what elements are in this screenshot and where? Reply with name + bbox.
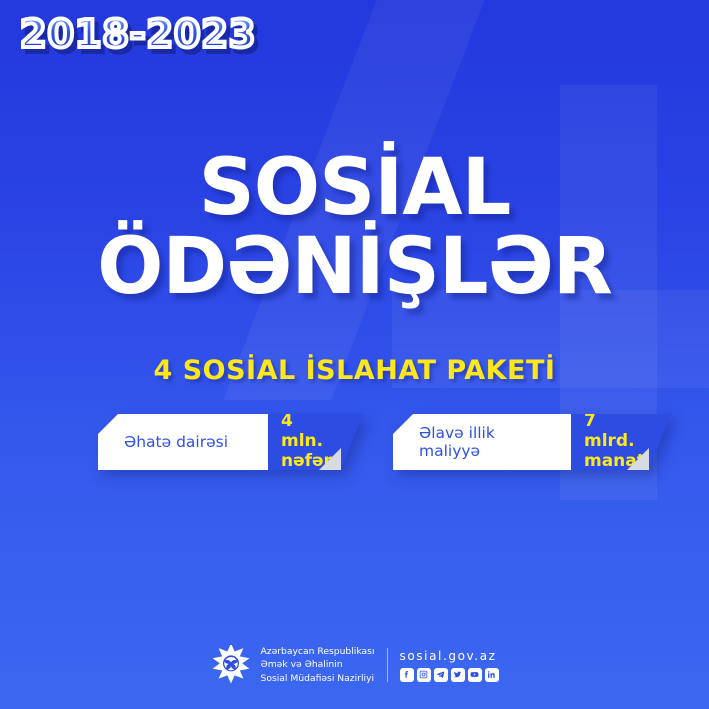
- web-contact-block: sosial.gov.az: [400, 649, 499, 682]
- footer-divider: [387, 648, 388, 682]
- page-title-line-1: SOSİAL: [0, 152, 709, 225]
- ministry-name-line-3: Sosial Müdafiəsi Nazirliyi: [261, 672, 375, 685]
- ministry-name: Azərbaycan Respublikası Əmək və Əhalinin…: [261, 645, 375, 684]
- year-range-badge: 2018-2023: [20, 12, 256, 56]
- facebook-icon[interactable]: [400, 668, 414, 682]
- ministry-name-line-1: Azərbaycan Respublikası: [261, 645, 375, 658]
- ministry-name-line-2: Əmək və Əhalinin: [261, 658, 375, 671]
- stat-badge-row: Əhatə dairəsi 4 mln.nəfər Əlavə illikmal…: [98, 414, 671, 470]
- page-title: SOSİAL ÖDƏNİŞLƏR: [0, 152, 709, 305]
- stat-badge-financing-value-line-1: 7 mlrd.: [584, 411, 635, 451]
- page-subtitle: 4 SOSİAL İSLAHAT PAKETİ: [0, 355, 709, 386]
- stat-badge-coverage-label: Əhatə dairəsi: [124, 433, 228, 451]
- stat-badge-coverage-value-panel: 4 mln.nəfər: [268, 414, 363, 470]
- page-title-line-2: ÖDƏNİŞLƏR: [0, 231, 709, 304]
- website-url[interactable]: sosial.gov.az: [400, 649, 497, 663]
- stat-badge-coverage-value-line-2: nəfər: [281, 451, 332, 471]
- stat-badge-financing-value-panel: 7 mlrd.manat: [571, 414, 671, 470]
- social-links: [400, 668, 499, 682]
- youtube-icon[interactable]: [468, 668, 482, 682]
- stat-badge-financing-value: 7 mlrd.manat: [584, 412, 645, 471]
- stat-badge-financing-label-panel: Əlavə illikmaliyyə: [393, 414, 571, 470]
- telegram-icon[interactable]: [434, 668, 448, 682]
- stat-badge-financing-label-line-1: Əlavə illik: [419, 424, 495, 442]
- ministry-block: Azərbaycan Respublikası Əmək və Əhalinin…: [211, 645, 375, 685]
- poster-canvas: 2018-2023 SOSİAL ÖDƏNİŞLƏR 4 SOSİAL İSLA…: [0, 0, 709, 709]
- stat-badge-financing-label-line-2: maliyyə: [419, 442, 480, 460]
- linkedin-icon[interactable]: [485, 668, 499, 682]
- stat-badge-coverage: Əhatə dairəsi 4 mln.nəfər: [98, 414, 363, 470]
- twitter-icon[interactable]: [451, 668, 465, 682]
- ministry-star-logo-icon: [211, 645, 251, 685]
- instagram-icon[interactable]: [417, 668, 431, 682]
- stat-badge-coverage-value: 4 mln.nəfər: [281, 412, 333, 471]
- stat-badge-coverage-value-line-1: 4 mln.: [281, 411, 323, 451]
- stat-badge-financing-label: Əlavə illikmaliyyə: [419, 424, 495, 461]
- stat-badge-financing-value-line-2: manat: [584, 451, 645, 471]
- stat-badge-financing: Əlavə illikmaliyyə 7 mlrd.manat: [393, 414, 671, 470]
- stat-badge-coverage-label-panel: Əhatə dairəsi: [98, 414, 268, 470]
- footer-bar: Azərbaycan Respublikası Əmək və Əhalinin…: [0, 645, 709, 685]
